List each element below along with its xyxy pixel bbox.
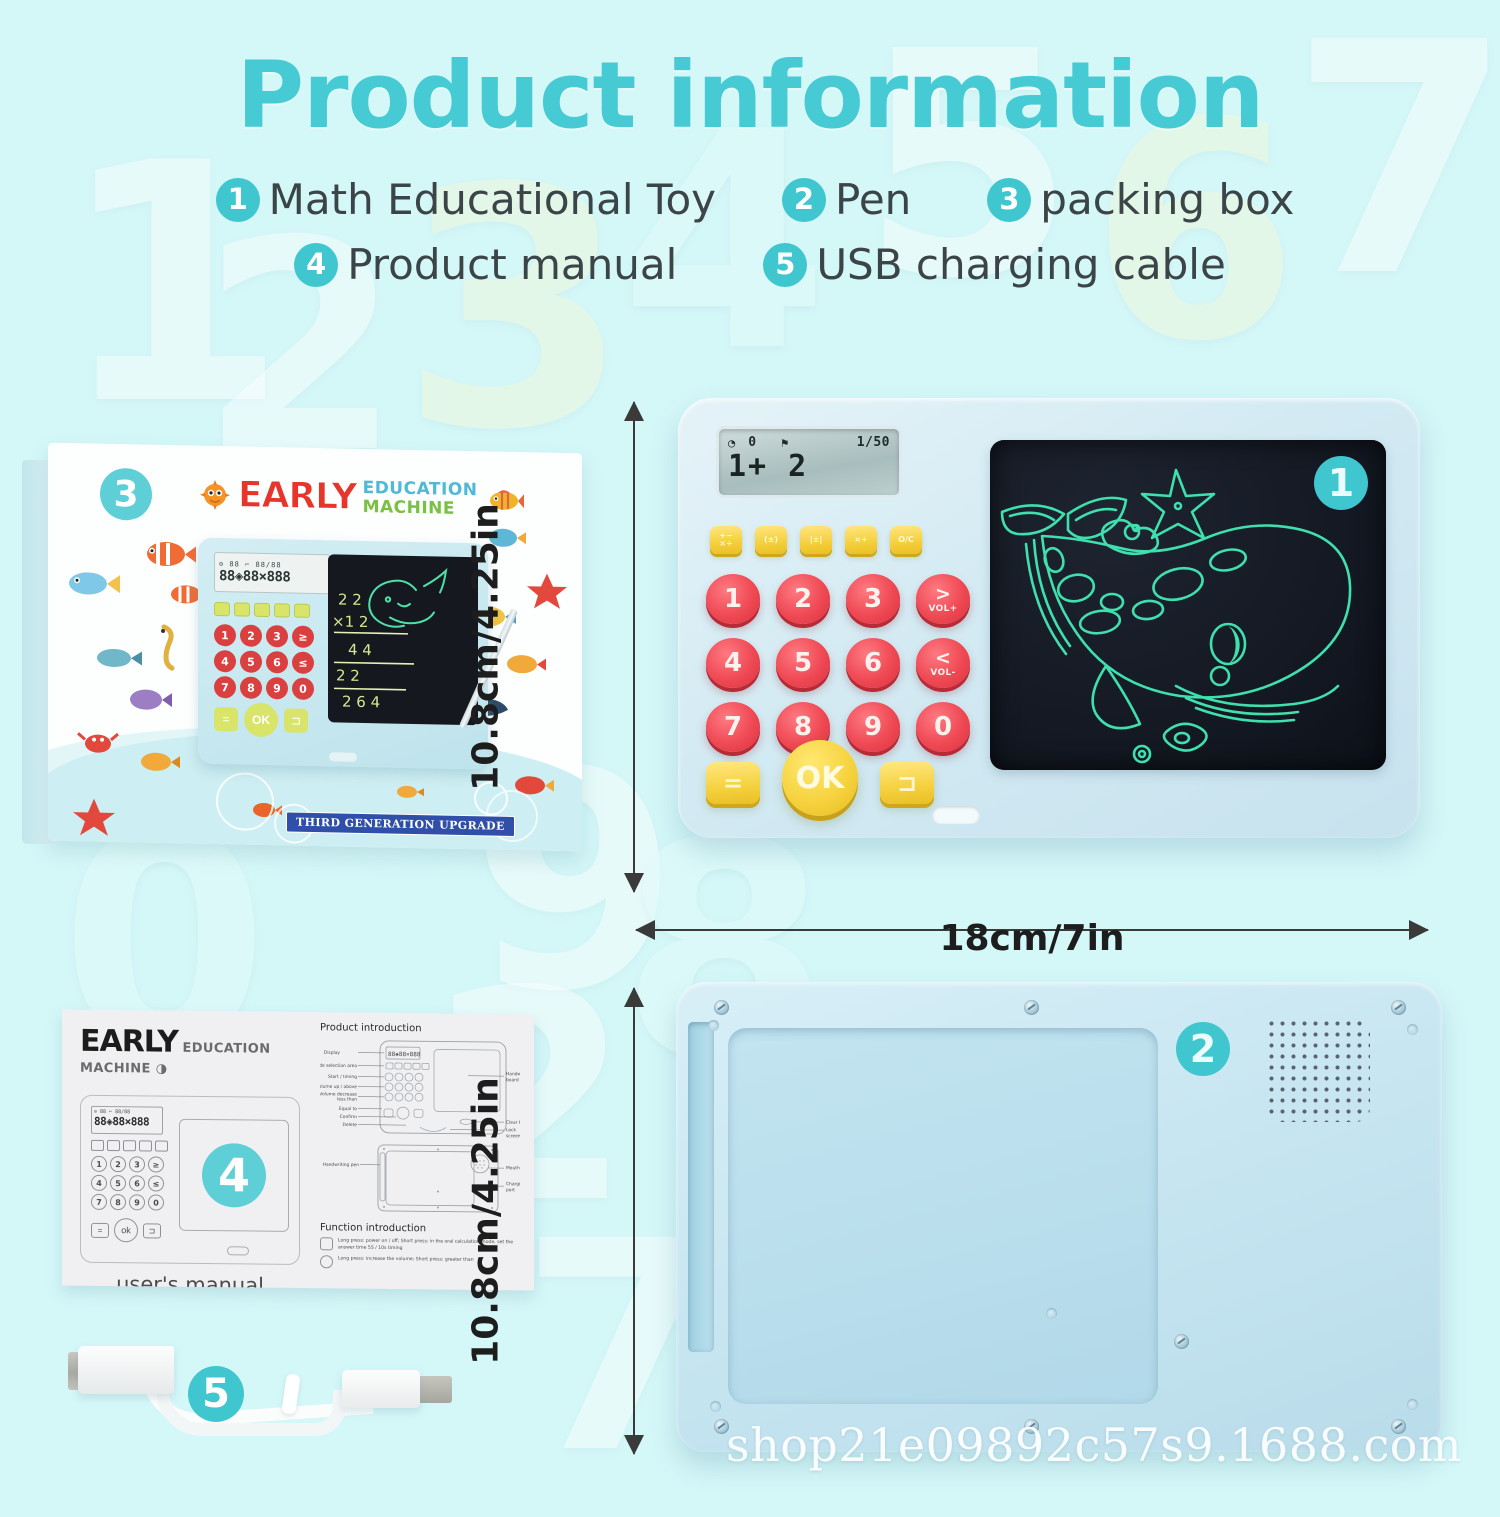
manual-logo: EARLY EDUCATION MACHINE ◑	[80, 1024, 308, 1079]
box-ok-key: OK	[244, 703, 278, 738]
svg-text:×1 2: ×1 2	[332, 612, 368, 631]
pufferfish-icon	[198, 477, 232, 512]
purple-fish-icon	[124, 682, 172, 717]
box-key: 4	[214, 650, 236, 672]
legend-label-5: USB charging cable	[816, 240, 1226, 289]
back-recess-panel	[728, 1028, 1158, 1404]
manual-logo-machine: MACHINE	[80, 1061, 151, 1077]
arrow-down-icon	[624, 873, 644, 893]
usb-cable-loop	[156, 1390, 346, 1436]
multiply-divide-key[interactable]: ×÷	[845, 526, 877, 554]
watermark: shop21e09892c57s9.1688.com	[726, 1418, 1462, 1472]
legend-badge-3: 3	[987, 178, 1031, 222]
legend-item-2: 2 Pen	[782, 175, 911, 224]
box-home-button	[329, 752, 357, 762]
manual-badge-4: 4	[202, 1143, 266, 1208]
dimension-height-front: 10.8cm/4.25in	[612, 402, 656, 892]
svg-text:Lock: Lock	[506, 1127, 516, 1133]
manual-title: user's manual	[80, 1272, 300, 1291]
lcd-status-row: ◔ 0 ⚑ 1/50	[728, 435, 890, 450]
volume-up-key-icon	[320, 1255, 333, 1268]
svg-text:Delete: Delete	[343, 1122, 358, 1128]
key-9[interactable]: 9	[846, 702, 900, 752]
volume-up-symbol: >	[935, 585, 951, 604]
manual-equals-key: =	[91, 1222, 109, 1237]
manual-fn-key	[123, 1140, 136, 1151]
product-manual-photo: EARLY EDUCATION MACHINE ◑ ⊙ 88 ⌐ 88/88 8…	[62, 1012, 534, 1288]
box-board-drawing: 2 2 ×1 2 4 4 2 2 2 6 4	[328, 554, 478, 725]
manual-device-lcd: ⊙ 88 ⌐ 88/88 88◈88×888	[91, 1106, 163, 1135]
box-back-key: ⊐	[284, 708, 308, 732]
svg-text:port: port	[506, 1187, 515, 1193]
blue-fish-icon	[62, 563, 122, 604]
handwriting-board[interactable]: 1	[990, 440, 1386, 770]
manual-function-text: Long press: increase the volume; Short p…	[338, 1256, 474, 1265]
molding-dimple	[1046, 1308, 1057, 1319]
device-back-photo: 2	[676, 982, 1442, 1452]
manual-fn-key	[155, 1141, 168, 1152]
numeric-keypad[interactable]: 1 2 3 > VOL+ 4 5 6 < VOL- 7 8 9 0	[706, 574, 970, 752]
svg-text:screen key: screen key	[506, 1133, 520, 1139]
power-key[interactable]: O/C	[890, 526, 922, 554]
dimension-height-back: 10.8cm/4.25in	[612, 988, 656, 1454]
box-key: 2	[240, 624, 262, 646]
manual-fn-key	[91, 1140, 104, 1151]
box-fn-key	[234, 602, 250, 616]
legend-item-3: 3 packing box	[987, 175, 1294, 224]
svg-text:less than: less than	[337, 1096, 357, 1102]
volume-down-symbol: <	[935, 649, 951, 668]
legend-label-4: Product manual	[347, 240, 677, 289]
crab-icon	[76, 725, 120, 760]
lcd-counter: 0	[748, 435, 757, 450]
legend-item-5: 5 USB charging cable	[763, 240, 1226, 289]
key-volume-up[interactable]: > VOL+	[916, 574, 970, 624]
lcd-expression: 1+ 2	[728, 452, 890, 482]
start-timing-key[interactable]: (±)	[755, 526, 787, 554]
manual-key: 5	[110, 1175, 126, 1191]
svg-text:Equal to: Equal to	[339, 1106, 357, 1112]
manual-product-intro-heading: Product introduction	[320, 1022, 520, 1035]
legend-badge-1: 1	[216, 178, 260, 222]
manual-logo-education: EDUCATION	[182, 1041, 270, 1057]
legend-item-4: 4 Product manual	[294, 240, 677, 289]
box-device-lcd: ⊙ 88 ⌐ 88/88 88◈88×888	[214, 552, 330, 594]
manual-device-diagram: ⊙ 88 ⌐ 88/88 88◈88×888 1 2 3 ≥ 4 5 6	[80, 1095, 300, 1265]
box-keypad: 1 2 3 ≥ 4 5 6 ≤ 7 8 9 0	[214, 624, 312, 700]
box-key: 0	[292, 678, 314, 700]
box-equals-key: =	[214, 707, 238, 731]
screw-icon	[1024, 1000, 1039, 1015]
box-lcd-main: 88◈88×888	[219, 568, 325, 586]
clock-icon: ◔	[728, 436, 735, 450]
svg-text:Handwriting pen: Handwriting pen	[323, 1162, 360, 1168]
box-badge-3: 3	[100, 468, 152, 521]
svg-text:Handwriting: Handwriting	[506, 1071, 520, 1077]
molding-dimple	[1407, 1399, 1418, 1410]
legend-label-2: Pen	[835, 175, 911, 224]
page-header: Product information 1 Math Educational T…	[0, 0, 1500, 289]
arrow-right-icon	[1409, 920, 1429, 940]
manual-key: 0	[148, 1194, 164, 1210]
box-key: 5	[240, 650, 262, 672]
screw-icon	[1174, 1334, 1189, 1349]
page-title: Product information	[0, 0, 1500, 149]
dimension-label-width-front: 18cm/7in	[939, 918, 1124, 959]
key-2[interactable]: 2	[776, 574, 830, 624]
box-fn-key	[294, 604, 310, 618]
dimension-label-height-front: 10.8cm/4.25in	[466, 503, 507, 791]
legend-badge-2: 2	[782, 178, 826, 222]
manual-bottom-keys: = ok ⊐	[91, 1218, 161, 1243]
key-0[interactable]: 0	[916, 702, 970, 752]
device-lcd-display: ◔ 0 ⚑ 1/50 1+ 2	[716, 426, 902, 498]
fish-icon	[90, 641, 142, 674]
screw-icon	[714, 1000, 729, 1015]
legend-row-1: 1 Math Educational Toy 2 Pen 3 packing b…	[0, 175, 1500, 224]
box-key: 6	[266, 651, 288, 673]
arrow-down-icon	[624, 1435, 644, 1455]
svg-text:88◈88×888: 88◈88×888	[388, 1051, 421, 1058]
molding-dimple	[710, 1401, 721, 1412]
box-key: 7	[214, 676, 236, 698]
manual-handwriting-board: 4	[179, 1119, 289, 1232]
legend-badge-4: 4	[294, 243, 338, 287]
clownfish-icon	[140, 532, 196, 575]
manual-ok-key: ok	[114, 1218, 138, 1242]
lcd-page-counter: 1/50	[857, 435, 890, 450]
molding-dimple	[1407, 1024, 1418, 1035]
box-key: 3	[266, 625, 288, 647]
yellow-fish-icon	[136, 746, 180, 777]
key-4[interactable]: 4	[706, 638, 760, 688]
manual-home-button	[227, 1246, 249, 1255]
bottom-key-row[interactable]: = OK ⊐	[706, 750, 934, 816]
usb-cable-photo: 5	[60, 1318, 500, 1468]
box-bottom-keys: = OK ⊐	[214, 702, 308, 738]
box-device-illustration: ⊙ 88 ⌐ 88/88 88◈88×888 1 2 3 ≥ 4 5 6	[198, 538, 488, 770]
svg-text:board: board	[506, 1077, 519, 1083]
manual-fn-key	[139, 1140, 152, 1151]
box-key: 1	[214, 624, 236, 646]
volume-up-label: VOL+	[929, 605, 958, 614]
legend-label-1: Math Educational Toy	[269, 175, 716, 224]
usb-a-plug-housing	[78, 1346, 174, 1394]
volume-down-label: VOL-	[930, 669, 955, 678]
manual-key: 6	[129, 1175, 145, 1191]
box-key: ≥	[292, 626, 314, 648]
arrow-up-icon	[624, 401, 644, 421]
pen-slot	[688, 1022, 714, 1352]
home-button[interactable]	[932, 806, 980, 824]
legend-item-1: 1 Math Educational Toy	[216, 175, 716, 224]
svg-text:2 2: 2 2	[336, 666, 360, 684]
svg-text:Display: Display	[324, 1050, 341, 1056]
box-logo-machine: MACHINE	[363, 496, 455, 518]
box-fn-key	[214, 602, 230, 616]
box-fn-key	[274, 603, 290, 617]
manual-key: ≤	[148, 1175, 164, 1191]
back-delete-key[interactable]: ⊐	[880, 762, 934, 804]
fish-icon	[394, 780, 424, 805]
manual-function-keys	[91, 1140, 168, 1152]
box-logo-early: EARLY	[238, 474, 357, 517]
manual-key: 2	[110, 1156, 126, 1172]
manual-lcd-main: 88◈88×888	[94, 1115, 160, 1129]
key-1[interactable]: 1	[706, 574, 760, 624]
mode-select-key[interactable]: +−×÷	[710, 526, 742, 554]
svg-text:Mode selection area: Mode selection area	[320, 1063, 357, 1069]
screw-icon	[1391, 1000, 1406, 1015]
starfish-icon	[72, 795, 116, 838]
svg-text:4 4: 4 4	[348, 641, 372, 659]
box-key: 9	[266, 677, 288, 699]
dimension-width-front: 18cm/7in	[636, 900, 1428, 960]
fish-icon	[502, 648, 546, 681]
manual-left-column: EARLY EDUCATION MACHINE ◑ ⊙ 88 ⌐ 88/88 8…	[80, 1024, 308, 1291]
speaker-grille	[1266, 1018, 1370, 1122]
arrow-left-icon	[635, 920, 655, 940]
micro-usb-plug-housing	[342, 1370, 420, 1408]
svg-text:2 2: 2 2	[338, 590, 362, 608]
svg-text:2 6 4: 2 6 4	[342, 693, 380, 712]
legend-label-3: packing box	[1040, 175, 1294, 224]
molding-dimple	[708, 1020, 719, 1031]
starfish-icon	[526, 570, 568, 611]
manual-key: 7	[91, 1194, 107, 1210]
dimension-line	[633, 402, 635, 892]
svg-text:Clear key: Clear key	[506, 1120, 520, 1126]
manual-logo-early: EARLY	[80, 1024, 178, 1060]
ok-key[interactable]: OK	[782, 740, 858, 816]
box-logo-sub: EDUCATION MACHINE	[363, 479, 478, 517]
svg-text:Confirm: Confirm	[340, 1114, 357, 1120]
power-key-icon	[320, 1237, 333, 1250]
manual-back-key: ⊐	[143, 1223, 161, 1238]
box-key: ≤	[292, 652, 314, 674]
function-key-row[interactable]: +−×÷ (±) |±| ×÷ O/C	[710, 526, 922, 554]
usb-badge-5: 5	[188, 1366, 244, 1422]
device-front-badge-1: 1	[1314, 456, 1368, 510]
svg-text:Charging: Charging	[506, 1181, 520, 1187]
device-front-photo: ◔ 0 ⚑ 1/50 1+ 2 +−×÷ (±) |±| ×÷ O/C 1 2 …	[678, 398, 1420, 838]
manual-key: 8	[110, 1194, 126, 1210]
flag-icon: ⚑	[781, 436, 788, 450]
key-7[interactable]: 7	[706, 702, 760, 752]
dimension-line	[633, 988, 635, 1454]
legend-badge-5: 5	[763, 243, 807, 287]
box-key: 8	[240, 676, 262, 698]
manual-key: 3	[129, 1156, 145, 1172]
key-5[interactable]: 5	[776, 638, 830, 688]
manual-key: 9	[129, 1194, 145, 1210]
equals-key[interactable]: =	[706, 762, 760, 804]
svg-text:Mouth: Mouth	[506, 1165, 520, 1171]
box-function-keys	[214, 602, 310, 618]
key-volume-down[interactable]: < VOL-	[916, 638, 970, 688]
svg-text:Start / timing: Start / timing	[328, 1074, 357, 1080]
seahorse-icon	[148, 623, 182, 674]
manual-fn-key	[107, 1140, 120, 1151]
arrow-up-icon	[624, 987, 644, 1007]
svg-text:Volume up / above: Volume up / above	[320, 1084, 357, 1090]
legend-row-2: 4 Product manual 5 USB charging cable	[0, 240, 1500, 289]
key-3[interactable]: 3	[846, 574, 900, 624]
manual-key: ≥	[148, 1156, 164, 1172]
compare-key[interactable]: |±|	[800, 526, 832, 554]
dimension-label-height-back: 10.8cm/4.25in	[466, 1077, 507, 1365]
device-back-badge-2: 2	[1176, 1022, 1230, 1076]
bubble-decoration	[216, 772, 274, 831]
manual-keypad: 1 2 3 ≥ 4 5 6 ≤ 7 8 9 0	[91, 1156, 164, 1211]
box-handwriting-board: 2 2 ×1 2 4 4 2 2 2 6 4	[328, 554, 478, 725]
key-6[interactable]: 6	[846, 638, 900, 688]
manual-key: 4	[91, 1175, 107, 1191]
box-fn-key	[254, 603, 270, 617]
manual-key: 1	[91, 1156, 107, 1172]
